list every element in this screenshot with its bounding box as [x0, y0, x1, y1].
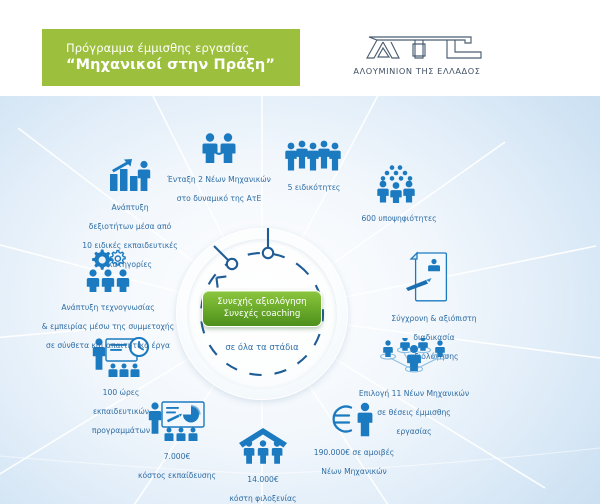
bar-chart-growth-person-icon — [55, 158, 205, 192]
banner-title: “Μηχανικοί στην Πράξη” — [66, 56, 300, 75]
center-badge-line1: Συνεχής αξιολόγηση — [207, 297, 317, 309]
banner-subtitle: Πρόγραμμα έμμισθης εργασίας — [66, 41, 300, 56]
document-with-pen-icon — [359, 251, 509, 303]
page-header: Πρόγραμμα έμμισθης εργασίας “Μηχανικοί σ… — [0, 0, 600, 96]
node-training-hours: 100 ώρες εκπαιδευτικών προγραμμάτων — [46, 337, 196, 437]
center-badge: Συνεχής αξιολόγηση Συνεχές coaching — [202, 290, 322, 327]
logo-caption: ΑΛΟΥΜΙΝΙΟΝ ΤΗΣ ΕΛΛΑΔΟΣ — [347, 66, 487, 76]
node-training-hours-label: 100 ώρες εκπαιδευτικών προγραμμάτων — [92, 388, 150, 435]
crowd-of-applicants-icon — [324, 165, 474, 203]
node-candidates-label: 600 υποψηφιότητες — [361, 214, 436, 223]
infographic-page: Πρόγραμμα έμμισθης εργασίας “Μηχανικοί σ… — [0, 0, 600, 504]
node-knowhow: Ανάπτυξη τεχνογνωσίας & εμπειρίας μέσω τ… — [33, 248, 183, 352]
node-candidates: 600 υποψηφιότητες — [324, 165, 474, 225]
infographic-stage: Συνεχής αξιολόγηση Συνεχές coaching σε ό… — [0, 96, 600, 504]
program-banner: Πρόγραμμα έμμισθης εργασίας “Μηχανικοί σ… — [42, 29, 300, 86]
center-badge-subtitle: σε όλα τα στάδια — [176, 342, 348, 352]
center-badge-line2: Συνεχές coaching — [207, 309, 317, 321]
gears-people-icon — [33, 248, 183, 292]
node-training-cost-label: 7.000€ κόστος εκπαίδευσης — [138, 452, 216, 480]
company-logo: ΑΛΟΥΜΙΝΙΟΝ ΤΗΣ ΕΛΛΑΔΟΣ — [347, 32, 487, 82]
ate-monogram-icon — [347, 32, 487, 65]
node-knowhow-label: Ανάπτυξη τεχνογνωσίας & εμπειρίας μέσω τ… — [42, 303, 174, 350]
network-of-people-icon — [339, 338, 489, 378]
